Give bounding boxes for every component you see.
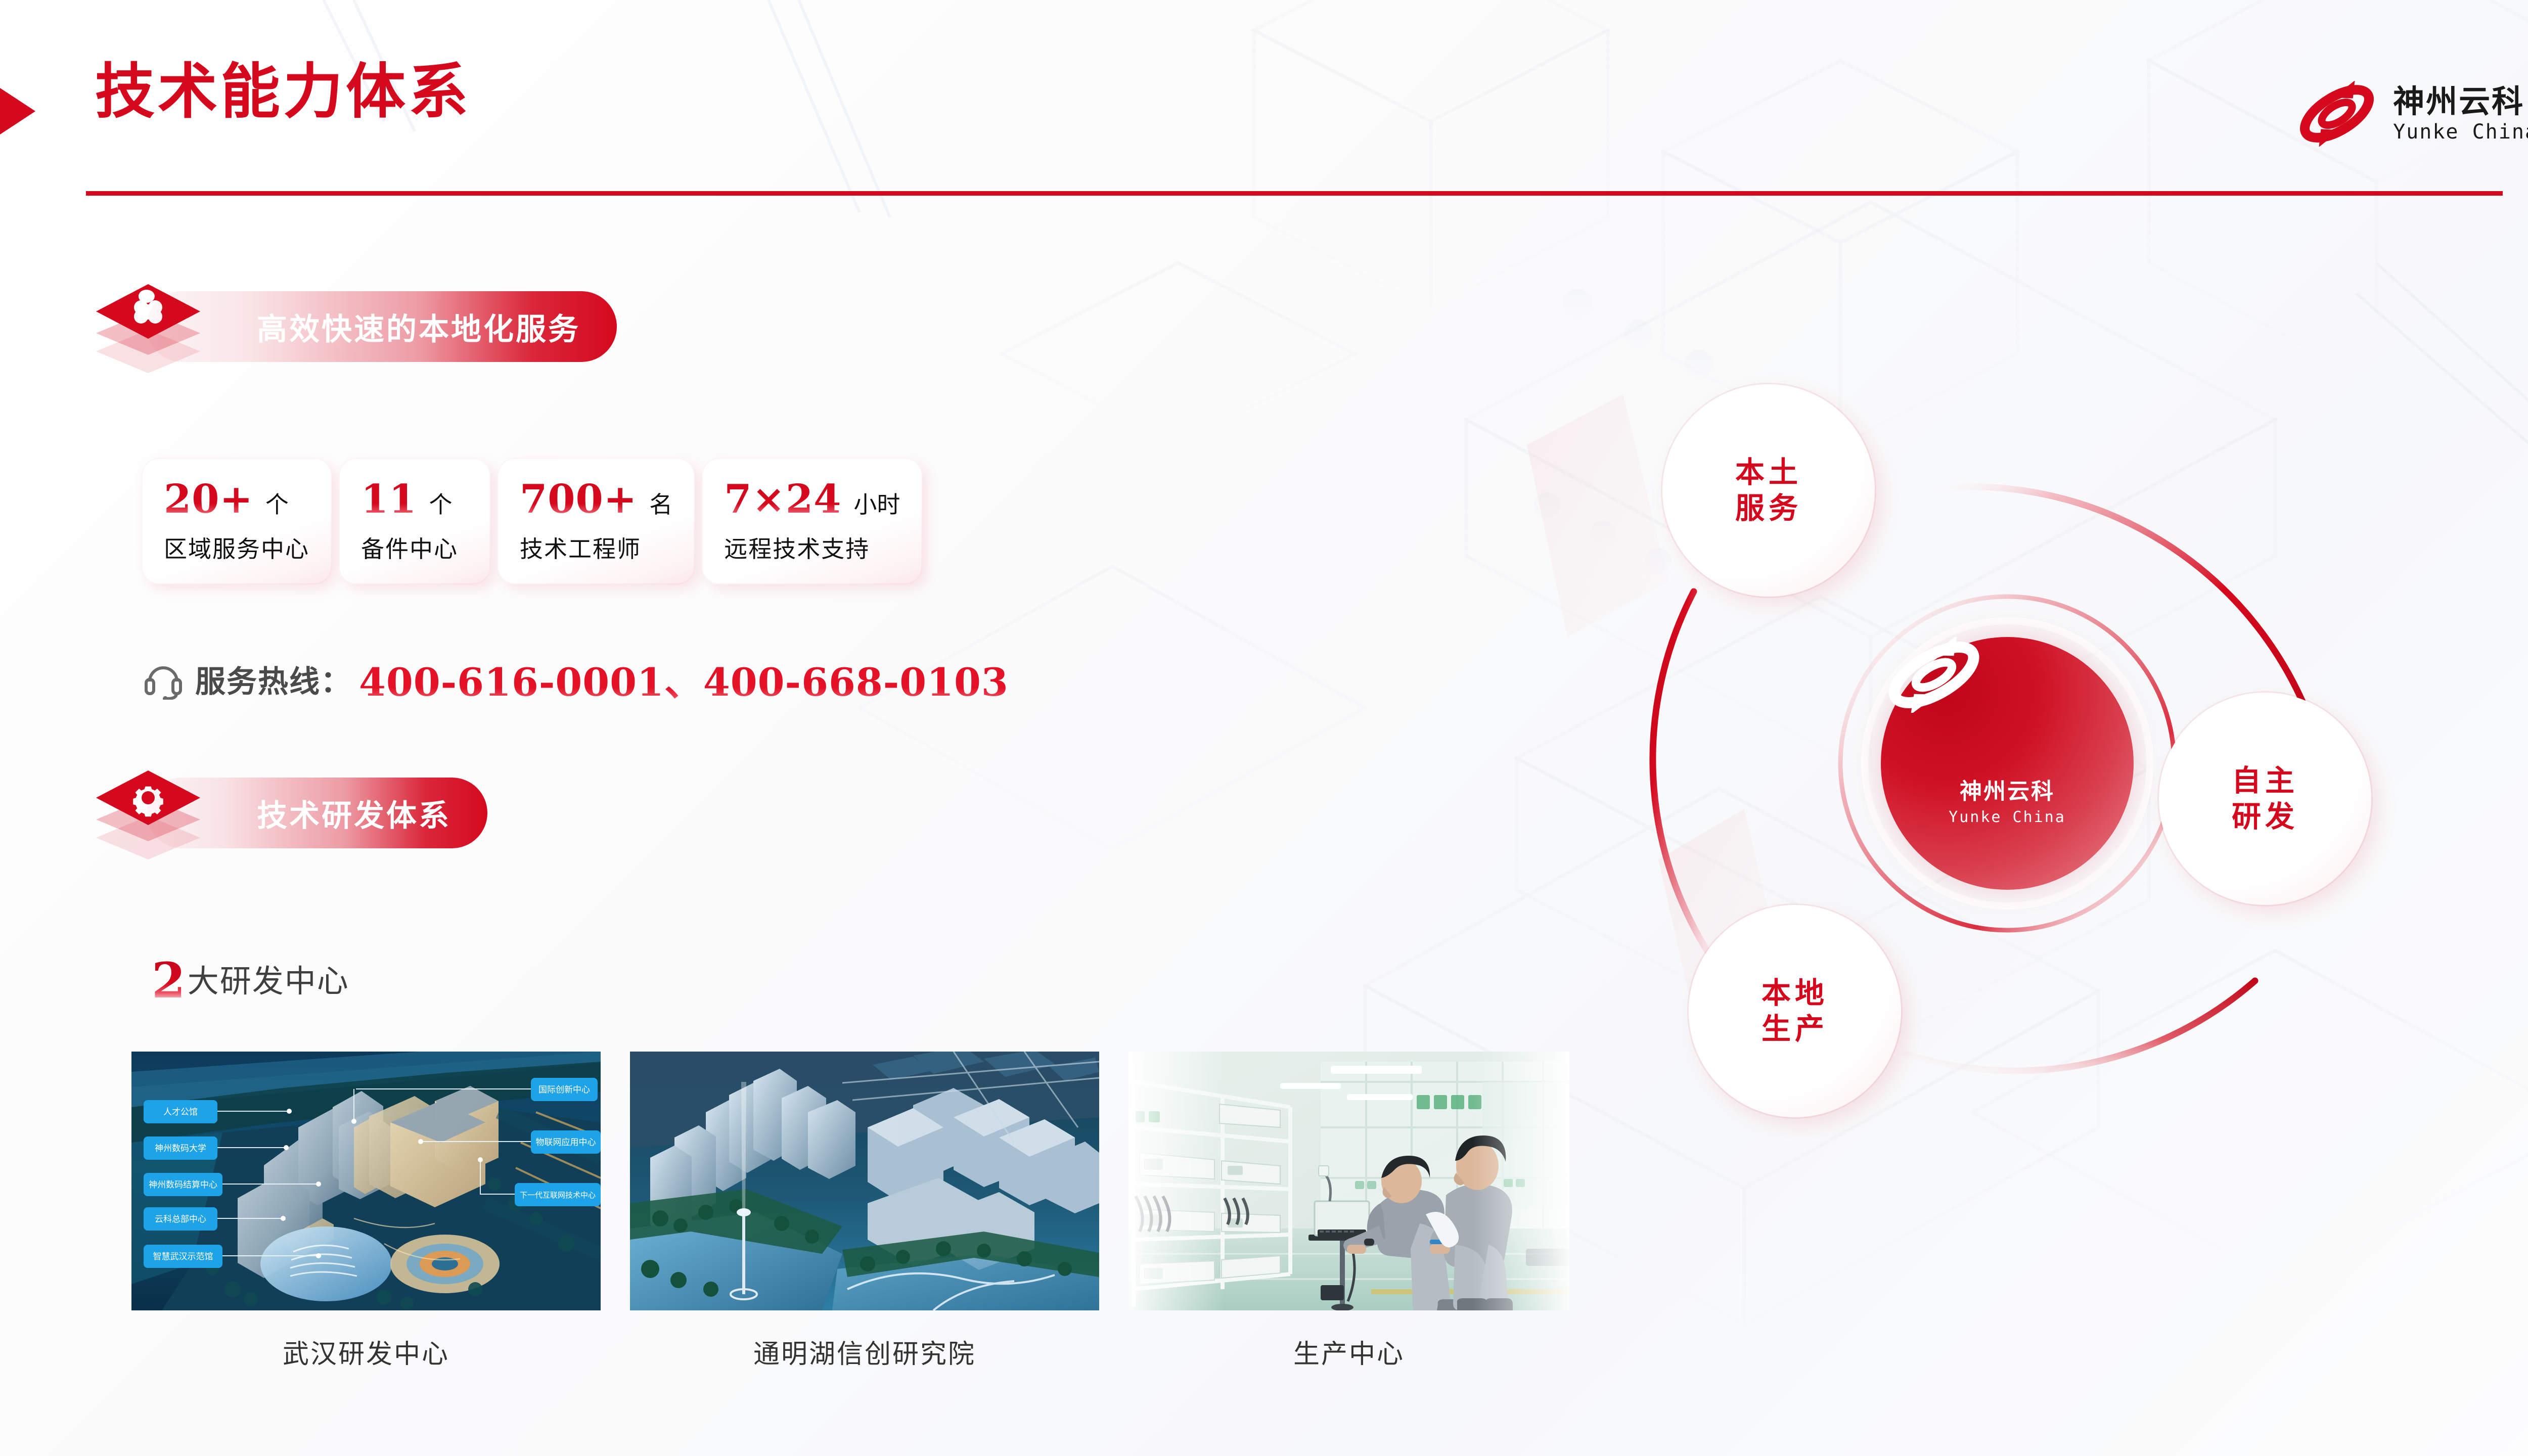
yunke-swirl-logo-icon bbox=[2294, 81, 2380, 147]
orbit-node-label: 本土服务 bbox=[1735, 454, 1802, 526]
svg-text:云科总部中心: 云科总部中心 bbox=[155, 1214, 206, 1224]
orbit-center-name-cn: 神州云科 bbox=[1960, 780, 2055, 804]
orbit-node-label: 本地生产 bbox=[1762, 975, 1828, 1047]
orbit-center-name-en: Yunke China bbox=[1949, 808, 2066, 826]
photo-production-center[interactable] bbox=[1128, 1052, 1569, 1310]
brand-logo: 神州云科 Yunke China bbox=[2294, 81, 2528, 147]
photo-wuhan-rnd-center[interactable]: 人才公馆 神州数码大学 神州数码结算中心 云科总部中心 智慧武汉示范馆 国际创新… bbox=[131, 1052, 601, 1310]
stat-label: 区域服务中心 bbox=[164, 531, 309, 564]
stat-number: 20+ bbox=[164, 481, 253, 518]
orbit-node-local-prod[interactable]: 本地生产 bbox=[1689, 905, 1901, 1117]
header-divider bbox=[86, 191, 2503, 196]
orbit-node-self-rnd[interactable]: 自主研发 bbox=[2159, 693, 2371, 905]
rnd-count-text: 大研发中心 bbox=[188, 955, 349, 1001]
section-label: 高效快速的本地化服务 bbox=[257, 305, 580, 349]
stat-unit: 小时 bbox=[853, 486, 900, 520]
photo-caption: 生产中心 bbox=[1128, 1333, 1569, 1371]
page-title: 技术能力体系 bbox=[95, 62, 471, 121]
section-pill-local-service: 高效快速的本地化服务 bbox=[147, 291, 617, 362]
yunke-swirl-logo-white-icon bbox=[1954, 701, 2060, 777]
stat-unit: 个 bbox=[429, 486, 453, 520]
photo-item: 生产中心 bbox=[1128, 1052, 1569, 1371]
brand-name-cn: 神州云科 bbox=[2393, 86, 2528, 117]
svg-text:下一代互联网技术中心: 下一代互联网技术中心 bbox=[520, 1191, 596, 1200]
svg-text:智慧武汉示范馆: 智慧武汉示范馆 bbox=[153, 1252, 213, 1262]
photo-caption: 通明湖信创研究院 bbox=[630, 1333, 1099, 1371]
section-pill-rnd: 技术研发体系 bbox=[147, 778, 487, 848]
stat-card: 11 个 备件中心 bbox=[339, 458, 490, 584]
stat-card: 7×24 小时 远程技术支持 bbox=[702, 458, 922, 584]
stat-unit: 个 bbox=[265, 486, 289, 520]
headset-icon bbox=[143, 658, 184, 700]
service-hotline: 服务热线： 400-616-0001、400-668-0103 bbox=[143, 651, 1009, 707]
svg-text:神州数码大学: 神州数码大学 bbox=[155, 1144, 206, 1154]
orbit-node-local-service[interactable]: 本土服务 bbox=[1662, 384, 1875, 597]
stat-card: 700+ 名 技术工程师 bbox=[498, 458, 695, 584]
title-arrow-icon bbox=[0, 65, 35, 158]
hotline-numbers[interactable]: 400-616-0001、400-668-0103 bbox=[359, 651, 1009, 707]
stat-number: 11 bbox=[361, 481, 417, 518]
svg-text:国际创新中心: 国际创新中心 bbox=[538, 1085, 590, 1095]
capability-orbit-diagram: 神州云科 Yunke China 本土服务 自主研发 本地生产 bbox=[1603, 374, 2528, 1325]
photo-tongminghu-institute[interactable] bbox=[630, 1052, 1099, 1310]
stat-number: 700+ bbox=[520, 481, 637, 518]
svg-text:人才公馆: 人才公馆 bbox=[163, 1107, 198, 1117]
rnd-count-number: 2 bbox=[152, 961, 186, 1001]
rnd-photo-row: 人才公馆 神州数码大学 神州数码结算中心 云科总部中心 智慧武汉示范馆 国际创新… bbox=[131, 1052, 1599, 1371]
brand-name-en: Yunke China bbox=[2393, 122, 2528, 142]
stat-label: 备件中心 bbox=[361, 531, 468, 564]
photo-item: 人才公馆 神州数码大学 神州数码结算中心 云科总部中心 智慧武汉示范馆 国际创新… bbox=[131, 1052, 601, 1371]
stat-label: 技术工程师 bbox=[520, 531, 672, 564]
stat-number: 7×24 bbox=[724, 481, 841, 518]
stat-unit: 名 bbox=[649, 486, 672, 520]
stat-label: 远程技术支持 bbox=[724, 531, 900, 564]
orbit-node-label: 自主研发 bbox=[2232, 763, 2298, 835]
photo-item: 通明湖信创研究院 bbox=[630, 1052, 1099, 1371]
hotline-label: 服务热线： bbox=[195, 657, 352, 701]
rnd-center-count: 2 大研发中心 bbox=[152, 955, 349, 1001]
page-header: 技术能力体系 神州云科 Yunke China bbox=[0, 0, 2528, 197]
svg-text:神州数码结算中心: 神州数码结算中心 bbox=[149, 1180, 217, 1190]
stat-card-row: 20+ 个 区域服务中心 11 个 备件中心 700+ 名 技术工程师 7×24… bbox=[142, 458, 929, 584]
stat-card: 20+ 个 区域服务中心 bbox=[142, 458, 332, 584]
section-label: 技术研发体系 bbox=[257, 791, 451, 835]
orbit-center-brand: 神州云科 Yunke China bbox=[1881, 637, 2134, 890]
svg-text:物联网应用中心: 物联网应用中心 bbox=[536, 1137, 596, 1148]
photo-caption: 武汉研发中心 bbox=[131, 1333, 601, 1371]
